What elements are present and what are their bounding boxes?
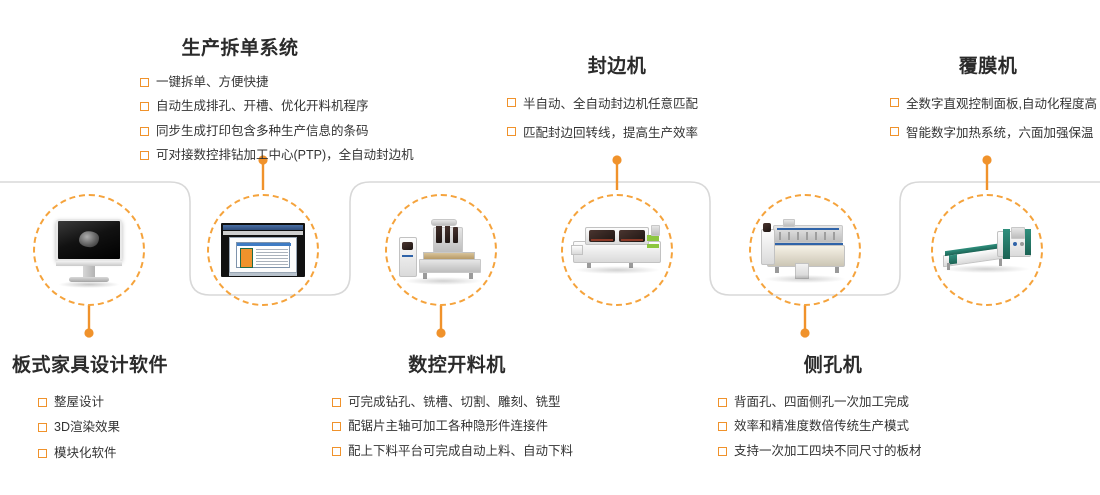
group-laminating-machine: 覆膜机 全数字直观控制面板,自动化程度高 智能数字加热系统，六面加强保温 [890, 56, 1097, 147]
station-design-software[interactable] [33, 194, 145, 306]
list-item: 可完成钻孔、铣槽、切割、雕刻、铣型 [332, 390, 582, 414]
dot-laminating [982, 155, 991, 164]
edge-banding-icon [571, 211, 663, 289]
list-item: 智能数字加热系统，六面加强保温 [890, 119, 1097, 148]
dot-side-hole [800, 328, 809, 337]
list-item: 全数字直观控制面板,自动化程度高 [890, 90, 1097, 119]
list-item: 背面孔、四面侧孔一次加工完成 [718, 390, 948, 414]
feature-list: 整屋设计 3D渲染效果 模块化软件 [12, 390, 168, 467]
group-title: 侧孔机 [718, 355, 948, 378]
list-item: 可对接数控排钻加工中心(PTP)，全自动封边机 [140, 143, 414, 167]
feature-list: 背面孔、四面侧孔一次加工完成 效率和精准度数倍传统生产模式 支持一次加工四块不同… [718, 390, 948, 463]
list-item: 半自动、全自动封边机任意匹配 [507, 90, 727, 119]
list-item: 3D渲染效果 [38, 415, 168, 441]
list-item: 整屋设计 [38, 390, 168, 416]
group-title: 板式家具设计软件 [12, 355, 168, 378]
station-laminating[interactable] [931, 194, 1043, 306]
station-split-order[interactable] [207, 194, 319, 306]
group-edge-banding-machine: 封边机 半自动、全自动封边机任意匹配 匹配封边回转线，提高生产效率 [507, 56, 727, 147]
list-item: 匹配封边回转线，提高生产效率 [507, 119, 727, 148]
list-item: 效率和精准度数倍传统生产模式 [718, 414, 948, 438]
feature-list: 半自动、全自动封边机任意匹配 匹配封边回转线，提高生产效率 [507, 90, 727, 148]
list-item: 一键拆单、方便快捷 [140, 70, 414, 94]
software-window-icon [217, 211, 309, 289]
group-title: 生产拆单系统 [140, 38, 340, 61]
list-item: 自动生成排孔、开槽、优化开料机程序 [140, 94, 414, 118]
group-cnc-cutting-machine: 数控开料机 可完成钻孔、铣槽、切割、雕刻、铣型 配锯片主轴可加工各种隐形件连接件… [332, 355, 582, 463]
station-edge-banding[interactable] [561, 194, 673, 306]
feature-list: 一键拆单、方便快捷 自动生成排孔、开槽、优化开料机程序 同步生成打印包含多种生产… [140, 70, 414, 168]
cnc-router-icon [395, 211, 487, 289]
station-side-hole[interactable] [749, 194, 861, 306]
laminating-icon [941, 211, 1033, 289]
list-item: 配上下料平台可完成自动上料、自动下料 [332, 439, 582, 463]
list-item: 同步生成打印包含多种生产信息的条码 [140, 119, 414, 143]
group-side-hole-drilling-machine: 侧孔机 背面孔、四面侧孔一次加工完成 效率和精准度数倍传统生产模式 支持一次加工… [718, 355, 948, 463]
group-title: 封边机 [507, 56, 727, 79]
dot-design-software [84, 328, 93, 337]
feature-list: 可完成钻孔、铣槽、切割、雕刻、铣型 配锯片主轴可加工各种隐形件连接件 配上下料平… [332, 390, 582, 463]
imac-monitor-icon [43, 211, 135, 289]
station-cnc-cutting[interactable] [385, 194, 497, 306]
infographic-canvas: 生产拆单系统 一键拆单、方便快捷 自动生成排孔、开槽、优化开料机程序 同步生成打… [0, 0, 1100, 495]
list-item: 支持一次加工四块不同尺寸的板材 [718, 439, 948, 463]
side-drill-icon [759, 211, 851, 289]
list-item: 模块化软件 [38, 441, 168, 467]
dot-cnc-cutting [436, 328, 445, 337]
group-panel-furniture-design-software: 板式家具设计软件 整屋设计 3D渲染效果 模块化软件 [12, 355, 168, 467]
list-item: 配锯片主轴可加工各种隐形件连接件 [332, 414, 582, 438]
dot-edge-banding [612, 155, 621, 164]
group-production-split-order-system: 生产拆单系统 一键拆单、方便快捷 自动生成排孔、开槽、优化开料机程序 同步生成打… [140, 38, 414, 167]
group-title: 覆膜机 [890, 56, 1086, 79]
group-title: 数控开料机 [332, 355, 582, 378]
feature-list: 全数字直观控制面板,自动化程度高 智能数字加热系统，六面加强保温 [890, 90, 1097, 148]
